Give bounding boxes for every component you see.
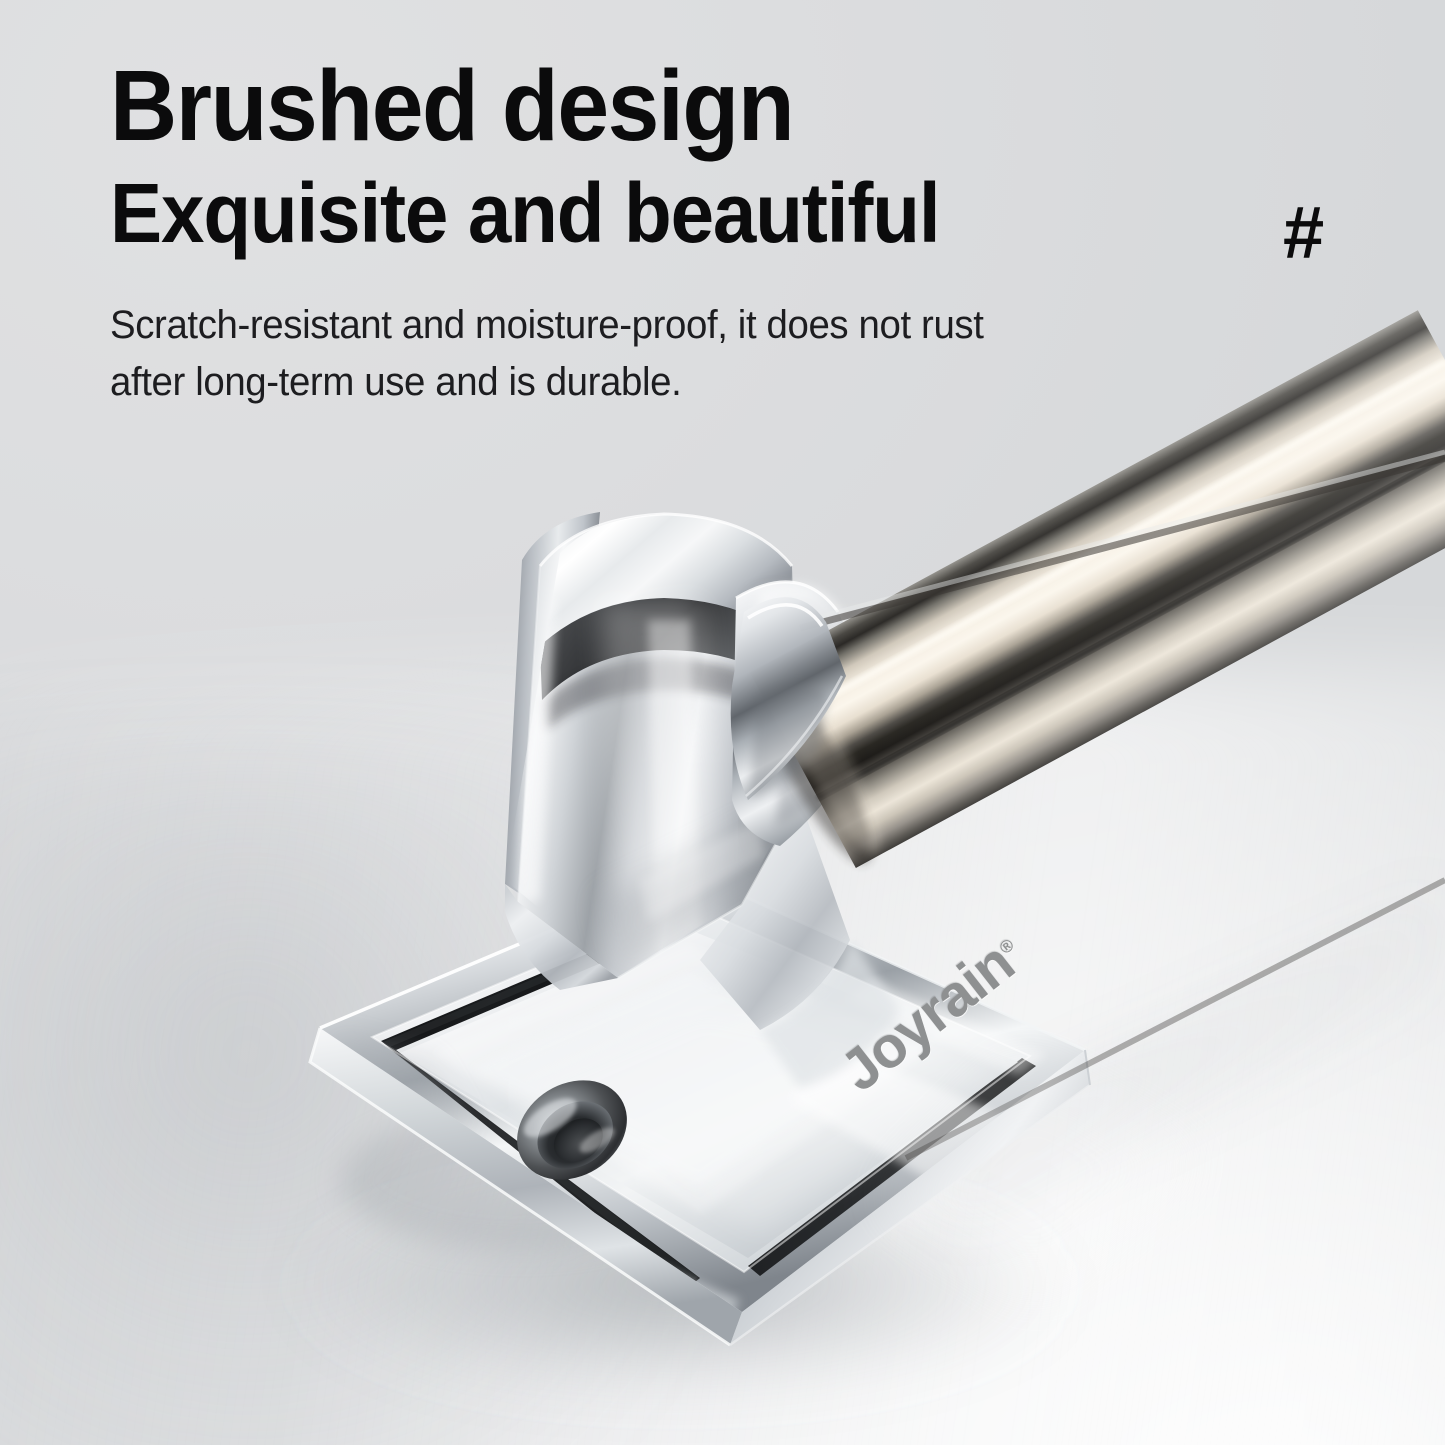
surface-sheen [0,665,1445,1445]
hash-mark: # [1283,196,1324,270]
subheadline: Exquisite and beautiful [110,171,1049,255]
brand-logo-registered-mark: ® [995,935,1017,959]
brand-logo-text: Joyrain [829,930,1026,1104]
surface-shadow [0,751,751,1445]
mounting-base-plate-group [310,872,1090,1345]
brand-logo: Joyrain® [828,921,1036,1104]
copy-block: Brushed design Exquisite and beautiful S… [110,58,1120,411]
set-screw-recess-group [498,1060,645,1199]
product-feature-image: Joyrain® Brushed design Exquisite and be… [0,0,1445,1445]
towel-bar-tube-group [738,310,1445,1158]
bar-socket-collar-lip [731,597,846,800]
body-text: Scratch-resistant and moisture-proof, it… [110,297,1022,411]
bar-socket-collar-group [732,582,880,846]
curved-riser-post-group [505,512,900,1088]
headline: Brushed design [110,58,1049,155]
